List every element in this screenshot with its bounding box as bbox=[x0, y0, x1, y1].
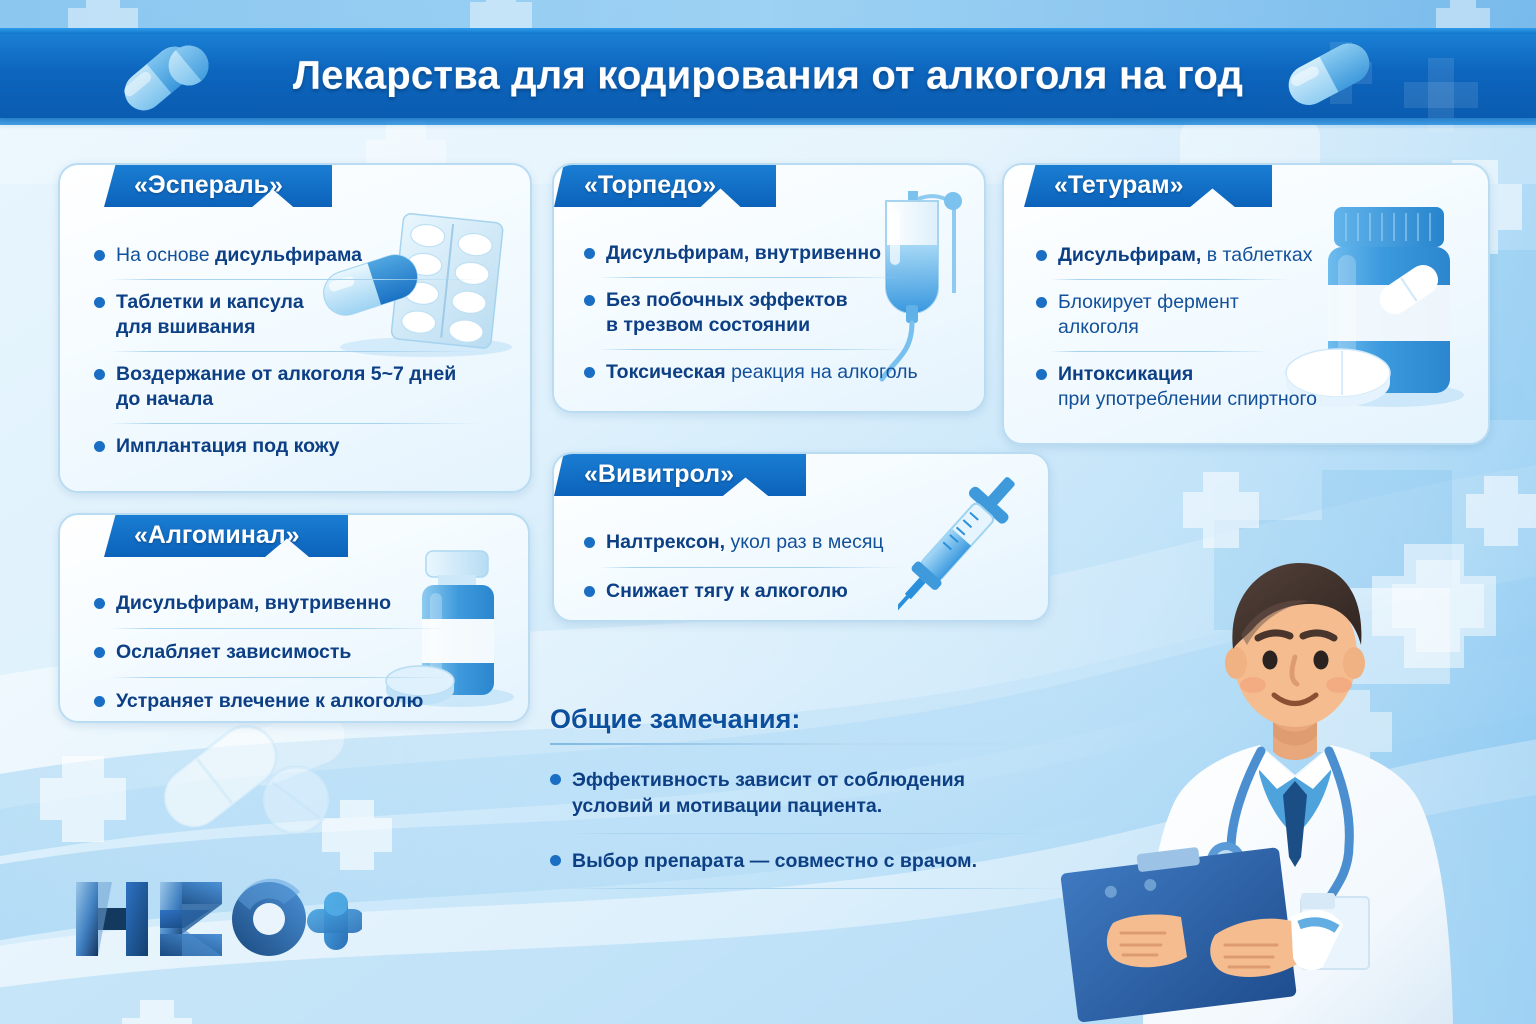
card-title-ribbon-vivitrol: «Вивитрол» bbox=[554, 452, 806, 496]
general-notes-section: Общие замечания: Эффективность зависит о… bbox=[550, 704, 1110, 889]
divider bbox=[110, 351, 480, 352]
divider bbox=[566, 888, 1070, 889]
list-item: Эффективность зависит от соблюдения усло… bbox=[550, 767, 1110, 819]
list-item: Блокирует фермент алкоголя bbox=[1036, 290, 1470, 340]
card-title-ribbon-esperal: «Эспераль» bbox=[104, 163, 332, 207]
list-item: Дисульфирам, внутривенно bbox=[584, 241, 966, 266]
bullet-dot bbox=[584, 586, 595, 597]
divider bbox=[1050, 279, 1290, 280]
list-item: Без побочных эффектов в трезвом состояни… bbox=[584, 288, 966, 338]
card-title-ribbon-torpedo: «Торпедо» bbox=[554, 163, 776, 207]
card-esperal: «Эспераль» На основе дисульфирама Таблет… bbox=[58, 163, 532, 493]
list-item: Токсическая реакция на алкоголь bbox=[584, 360, 966, 385]
bullet-dot bbox=[94, 647, 105, 658]
logo-plus-icon bbox=[307, 892, 362, 950]
divider bbox=[110, 677, 448, 678]
list-item: Ослабляет зависимость bbox=[94, 640, 510, 665]
bullet-dot bbox=[1036, 297, 1047, 308]
bullet-dot bbox=[584, 537, 595, 548]
divider bbox=[598, 567, 900, 568]
bullet-dot bbox=[94, 297, 105, 308]
list-item: Интоксикация при употреблении спиртного bbox=[1036, 362, 1470, 412]
doctor-with-clipboard-illustration bbox=[1055, 505, 1535, 1024]
page-title: Лекарства для кодирования от алкоголя на… bbox=[0, 54, 1536, 99]
bullet-dot bbox=[94, 598, 105, 609]
bullet-dot bbox=[584, 367, 595, 378]
list-item: Выбор препарата — совместно с врачом. bbox=[550, 848, 1110, 874]
card-vivitrol: «Вивитрол» Налтрексон, укол раз в месяц … bbox=[552, 452, 1050, 622]
bullet-dot bbox=[1036, 250, 1047, 261]
list-item: Дисульфирам, в таблетках bbox=[1036, 243, 1470, 268]
list-item: Таблетки и капсула для вшивания bbox=[94, 290, 510, 340]
bullet-dot bbox=[94, 696, 105, 707]
card-title-ribbon-algominal: «Алгоминал» bbox=[104, 513, 348, 557]
divider bbox=[110, 279, 480, 280]
bullet-dot bbox=[584, 248, 595, 259]
brand-logo bbox=[72, 876, 362, 967]
divider bbox=[1050, 351, 1270, 352]
bullet-dot bbox=[94, 369, 105, 380]
divider bbox=[598, 277, 906, 278]
list-item: На основе дисульфирама bbox=[94, 243, 510, 268]
card-title-ribbon-teturam: «Тетурам» bbox=[1024, 163, 1272, 207]
card-algominal: «Алгоминал» Дисульфирам, внутривенно Осл… bbox=[58, 513, 530, 723]
bullet-dot bbox=[550, 774, 561, 785]
divider bbox=[598, 349, 906, 350]
notes-heading: Общие замечания: bbox=[550, 704, 1110, 735]
bullet-dot bbox=[1036, 369, 1047, 380]
header-banner: Лекарства для кодирования от алкоголя на… bbox=[0, 34, 1536, 118]
list-item: Налтрексон, укол раз в месяц bbox=[584, 530, 1030, 555]
logo-letter-n bbox=[76, 882, 148, 956]
list-item: Имплантация под кожу bbox=[94, 434, 510, 459]
bullet-dot bbox=[584, 295, 595, 306]
bullet-dot bbox=[550, 855, 561, 866]
bullet-dot bbox=[94, 441, 105, 452]
card-torpedo: «Торпедо» Дисульфирам, внутривенно Без п… bbox=[552, 163, 986, 413]
list-item: Снижает тягу к алкоголю bbox=[584, 579, 1030, 604]
bullet-dot bbox=[94, 250, 105, 261]
card-teturam: «Тетурам» Дисульфирам, в таблетках Блоки… bbox=[1002, 163, 1490, 445]
divider bbox=[550, 743, 1095, 745]
list-item: Дисульфирам, внутривенно bbox=[94, 591, 510, 616]
list-item: Устраняет влечение к алкоголю bbox=[94, 689, 510, 714]
list-item: Воздержание от алкоголя 5~7 дней до нача… bbox=[94, 362, 510, 412]
logo-letter-e bbox=[160, 882, 222, 956]
divider bbox=[110, 423, 480, 424]
divider bbox=[566, 833, 1070, 834]
divider bbox=[110, 628, 448, 629]
logo-letter-o bbox=[232, 879, 306, 956]
